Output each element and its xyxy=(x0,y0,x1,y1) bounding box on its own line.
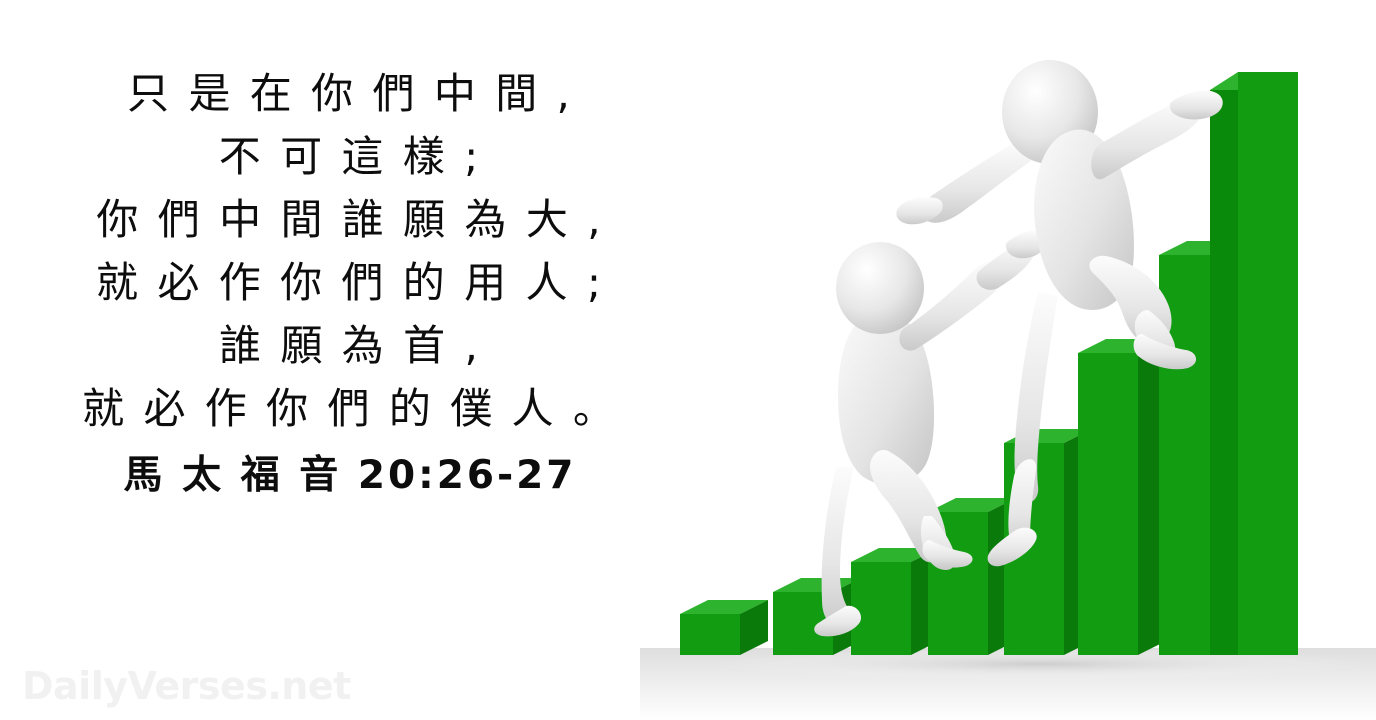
bar-6 xyxy=(1078,339,1166,655)
bar-1 xyxy=(680,600,768,655)
verse-line-1: 只 是 在 你 們 中 間 , xyxy=(0,62,700,125)
verse-image-canvas: 只 是 在 你 們 中 間 , 不 可 這 樣 ; 你 們 中 間 誰 願 為 … xyxy=(0,0,1376,720)
verse-line-3: 你 們 中 間 誰 願 為 大 , xyxy=(0,188,700,251)
bar-3 xyxy=(851,548,939,655)
verse-line-5: 誰 願 為 首 , xyxy=(0,314,700,377)
bar-chart-svg xyxy=(640,0,1376,720)
lower-figure-head xyxy=(836,242,924,334)
verse-line-6: 就 必 作 你 們 的 僕 人 。 xyxy=(0,377,700,440)
watermark-dailyverses: DailyVerses.net xyxy=(22,664,351,708)
verse-line-2: 不 可 這 樣 ; xyxy=(0,125,700,188)
bar-8 xyxy=(1210,72,1298,655)
verse-reference: 馬 太 福 音 20:26-27 xyxy=(0,446,700,506)
bar-chart-illustration xyxy=(640,0,1376,720)
verse-line-4: 就 必 作 你 們 的 用 人 ; xyxy=(0,251,700,314)
verse-text-block: 只 是 在 你 們 中 間 , 不 可 這 樣 ; 你 們 中 間 誰 願 為 … xyxy=(0,62,700,506)
